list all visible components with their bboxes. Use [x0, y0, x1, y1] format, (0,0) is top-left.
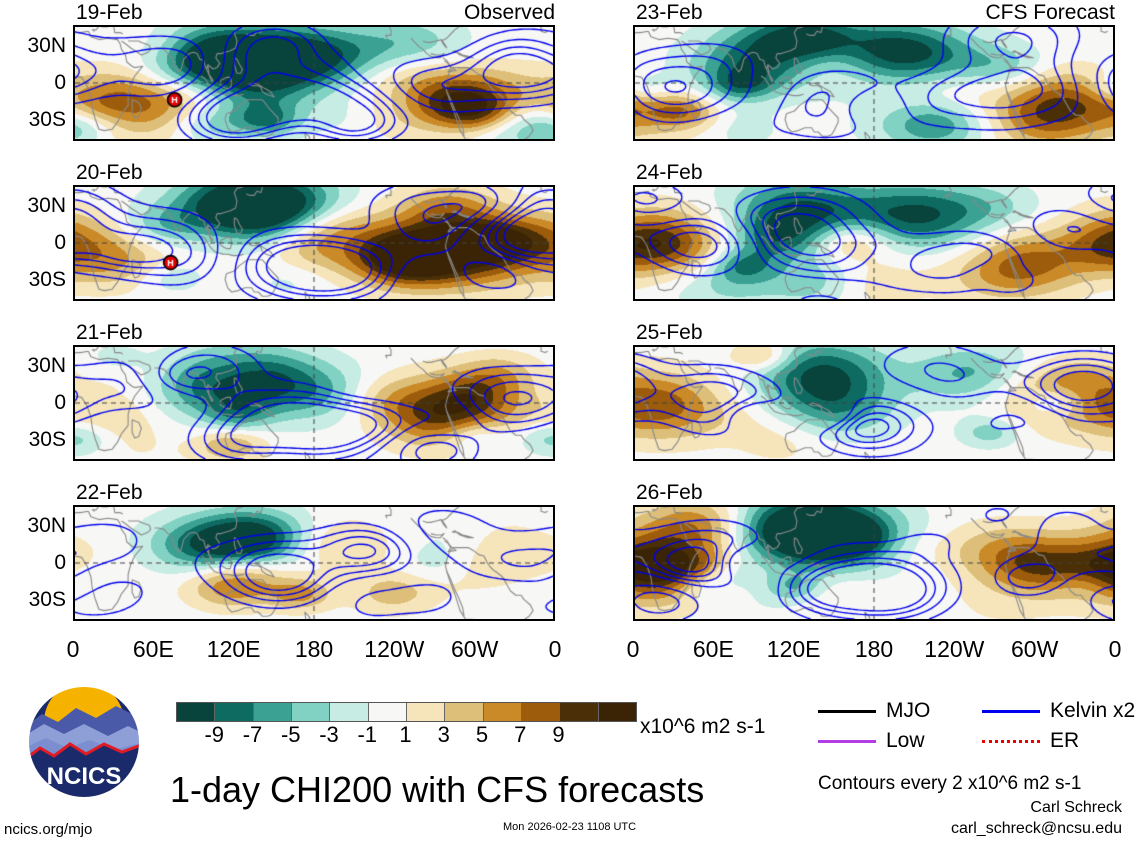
colorbar-swatch — [599, 703, 636, 721]
y-axis-tick-label: 0 — [0, 232, 66, 253]
colorbar-swatch — [330, 703, 368, 721]
map-canvas — [633, 25, 1115, 141]
colorbar-swatch — [484, 703, 522, 721]
colorbar-tick-label: 3 — [424, 724, 464, 746]
y-axis-tick-label: 30S — [0, 269, 66, 290]
colorbar-swatch — [445, 703, 483, 721]
x-axis-tick-label: 0 — [588, 638, 678, 661]
panel-date-label: 24-Feb — [636, 162, 703, 183]
panel-date-label: 26-Feb — [636, 482, 703, 503]
legend-label: Low — [886, 730, 925, 751]
y-axis-tick-label: 0 — [0, 552, 66, 573]
colorbar-units-label: x10^6 m2 s-1 — [640, 716, 765, 737]
colorbar-swatch — [215, 703, 253, 721]
panel-date-label: 25-Feb — [636, 322, 703, 343]
colorbar-swatch — [177, 703, 215, 721]
contour-interval-note: Contours every 2 x10^6 m2 s-1 — [818, 774, 1081, 793]
legend-label: Kelvin x2 — [1050, 700, 1135, 721]
map-canvas — [73, 185, 555, 301]
svg-text:NCICS: NCICS — [47, 763, 122, 790]
x-axis-tick-label: 0 — [28, 638, 118, 661]
legend-label: MJO — [886, 700, 930, 721]
map-canvas — [73, 25, 555, 141]
colorbar-swatch — [292, 703, 330, 721]
colorbar-tick-label: 1 — [386, 724, 426, 746]
legend-line-mjo — [818, 710, 876, 713]
colorbar-tick-label: 7 — [500, 724, 540, 746]
ncics-logo[interactable]: NCICS — [24, 682, 144, 802]
author-email: carl_schreck@ncsu.edu — [951, 821, 1122, 837]
colorbar-tick-label: 5 — [462, 724, 502, 746]
page-title: 1-day CHI200 with CFS forecasts — [170, 772, 704, 808]
y-axis-tick-label: 30S — [0, 109, 66, 130]
colorbar-tick-label: -3 — [309, 724, 349, 746]
site-url-link[interactable]: ncics.org/mjo — [4, 822, 92, 837]
map-canvas — [633, 345, 1115, 461]
y-axis-tick-label: 0 — [0, 72, 66, 93]
x-axis-tick-label: 120W — [349, 638, 439, 661]
colorbar-tick-label: 9 — [539, 724, 579, 746]
x-axis-tick-label: 120E — [749, 638, 839, 661]
colorbar-tick-label: -5 — [271, 724, 311, 746]
x-axis-tick-label: 120W — [909, 638, 999, 661]
y-axis-tick-label: 30N — [0, 35, 66, 56]
x-axis-tick-label: 180 — [269, 638, 359, 661]
colorbar-tick-label: -1 — [347, 724, 387, 746]
y-axis-tick-label: 30N — [0, 355, 66, 376]
map-canvas — [633, 505, 1115, 621]
y-axis-tick-label: 0 — [0, 392, 66, 413]
author-name: Carl Schreck — [1030, 800, 1122, 816]
y-axis-tick-label: 30S — [0, 429, 66, 450]
x-axis-tick-label: 120E — [189, 638, 279, 661]
colorbar-tick-label: -7 — [233, 724, 273, 746]
panel-date-label: 21-Feb — [76, 322, 143, 343]
x-axis-tick-label: 0 — [510, 638, 600, 661]
x-axis-tick-label: 60E — [668, 638, 758, 661]
panel-date-label: 22-Feb — [76, 482, 143, 503]
colorbar-swatch — [522, 703, 560, 721]
legend-label: ER — [1050, 730, 1079, 751]
map-canvas — [73, 505, 555, 621]
legend-line-er — [982, 740, 1040, 743]
x-axis-tick-label: 180 — [829, 638, 919, 661]
column-header-observed: Observed — [73, 2, 555, 23]
legend-line-low — [818, 740, 876, 743]
x-axis-tick-label: 60E — [108, 638, 198, 661]
x-axis-tick-label: 0 — [1070, 638, 1135, 661]
colorbar-tick-label: -9 — [194, 724, 234, 746]
x-axis-tick-label: 60W — [430, 638, 520, 661]
y-axis-tick-label: 30S — [0, 589, 66, 610]
map-canvas — [73, 345, 555, 461]
colorbar — [176, 702, 637, 722]
panel-date-label: 20-Feb — [76, 162, 143, 183]
y-axis-tick-label: 30N — [0, 515, 66, 536]
column-header-forecast: CFS Forecast — [633, 2, 1115, 23]
colorbar-swatch — [254, 703, 292, 721]
x-axis-tick-label: 60W — [990, 638, 1080, 661]
colorbar-swatch — [407, 703, 445, 721]
y-axis-tick-label: 30N — [0, 195, 66, 216]
map-canvas — [633, 185, 1115, 301]
colorbar-swatch — [560, 703, 598, 721]
timestamp: Mon 2026-02-23 1108 UTC — [503, 822, 636, 833]
legend-line-kelvin-x2 — [982, 710, 1040, 713]
colorbar-swatch — [369, 703, 407, 721]
